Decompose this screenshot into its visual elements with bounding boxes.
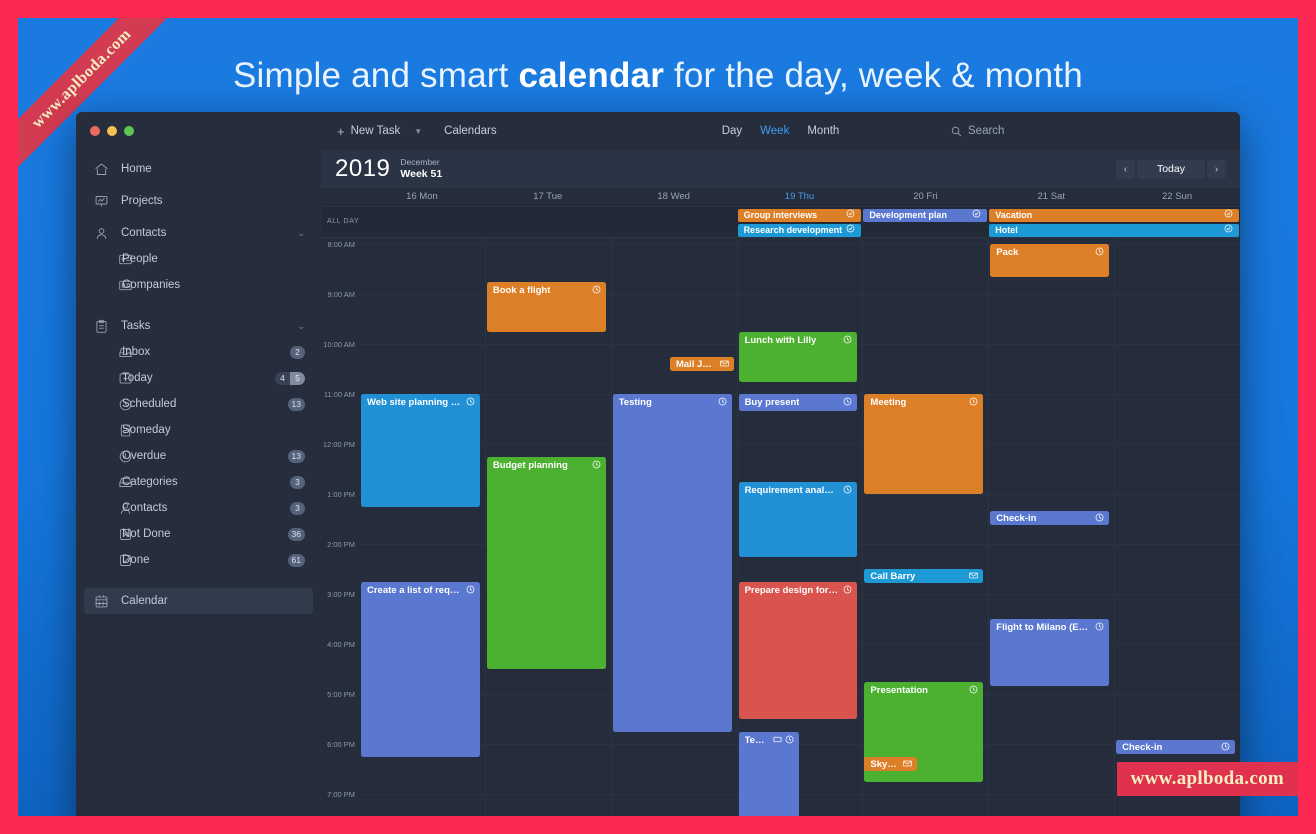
event-header: Flight to Milano (EG 224)	[990, 619, 1109, 633]
day-divider	[988, 238, 989, 816]
header-subtitle: December Week 51	[400, 158, 442, 180]
day-header-1[interactable]: 17 Tue	[485, 188, 611, 206]
sidebar-item-label: Tasks	[121, 320, 297, 332]
sidebar-item-contacts[interactable]: Contacts3	[84, 495, 313, 521]
watermark-bottom-right: www.aplboda.com	[1117, 762, 1298, 796]
overdue-icon	[116, 447, 134, 465]
maximize-icon[interactable]	[124, 126, 134, 136]
clock-icon	[116, 395, 134, 413]
home-icon	[92, 160, 110, 178]
event-header: Create a list of requir…	[361, 582, 480, 596]
check-circle-icon	[846, 209, 855, 222]
check-circle-icon	[972, 209, 981, 222]
new-task-button[interactable]: + New Task ▼	[337, 124, 422, 139]
categories-icon	[116, 473, 134, 491]
mail-icon	[898, 759, 912, 770]
time-label: 3:00 PM	[321, 590, 355, 599]
sidebar-item-label: Calendar	[121, 595, 305, 607]
event-header: Testi…	[739, 732, 799, 746]
sidebar-item-categories[interactable]: Categories3	[84, 469, 313, 495]
time-label: 12:00 PM	[321, 440, 355, 449]
event-header: Web site planning (la…)	[361, 394, 480, 408]
all-day-event[interactable]: Group interviews	[738, 209, 862, 222]
sidebar-item-not-done[interactable]: Not Done36	[84, 521, 313, 547]
sidebar-item-contacts[interactable]: Contacts⌄	[84, 220, 313, 246]
day-header-0[interactable]: 16 Mon	[359, 188, 485, 206]
calendar-icon	[92, 592, 110, 610]
sidebar-item-home[interactable]: Home	[84, 156, 313, 182]
sidebar-item-tasks[interactable]: Tasks⌄	[84, 313, 313, 339]
calendar-event[interactable]: Check-in	[990, 511, 1109, 525]
calendar-event[interactable]: Testing	[613, 394, 732, 732]
event-header: Call Barry	[864, 569, 983, 582]
mail-icon	[969, 571, 978, 580]
search-placeholder: Search	[968, 125, 1004, 137]
clock-icon	[964, 397, 978, 408]
day-divider	[737, 238, 738, 816]
event-title: Lunch with Lilly	[745, 335, 817, 346]
clock-icon	[838, 335, 852, 346]
contacts-icon	[92, 224, 110, 242]
new-task-label: New Task	[351, 125, 401, 137]
not-done-icon	[116, 525, 134, 543]
sidebar-spacer	[76, 573, 321, 582]
calendar-event[interactable]: Requirement analysis	[739, 482, 858, 557]
all-day-row: Group interviewsDevelopment planVacation	[359, 209, 1240, 222]
chevron-down-icon[interactable]: ⌄	[297, 228, 305, 239]
event-header: Pack	[990, 244, 1109, 258]
time-label: 1:00 PM	[321, 490, 355, 499]
event-header: Check-in	[990, 511, 1109, 524]
event-title: Prepare design for pr…	[745, 585, 839, 596]
sidebar-item-label: Companies	[122, 279, 305, 291]
clock-icon	[592, 285, 601, 294]
day-header-2[interactable]: 18 Wed	[611, 188, 737, 206]
next-week-button[interactable]: ›	[1207, 160, 1226, 179]
event-title: Meeting	[870, 397, 906, 408]
calendar-event[interactable]: Prepare design for pr…	[739, 582, 858, 720]
clock-icon	[768, 735, 794, 746]
day-header-4[interactable]: 20 Fri	[862, 188, 988, 206]
sidebar-item-label: Home	[121, 163, 305, 175]
inbox-icon	[116, 343, 134, 361]
calendar-event[interactable]: Mail Jess	[670, 357, 734, 371]
clock-icon	[843, 585, 852, 594]
chevron-down-icon[interactable]: ▼	[414, 127, 422, 136]
event-header: Budget planning	[487, 457, 606, 471]
date-navigation: ‹ Today ›	[1116, 160, 1226, 179]
all-day-event[interactable]: Development plan	[863, 209, 987, 222]
sidebar-item-companies[interactable]: Companies	[84, 272, 313, 298]
check-circle-icon	[972, 209, 981, 218]
today-button[interactable]: Today	[1137, 160, 1205, 179]
sidebar-item-label: People	[122, 253, 305, 265]
sidebar-item-badge: 36	[288, 528, 305, 541]
calendars-button[interactable]: Calendars	[444, 125, 496, 137]
event-header: Mail Jess	[670, 357, 734, 370]
contact-icon	[116, 499, 134, 517]
all-day-label: ALL DAY	[327, 218, 359, 225]
clock-icon	[964, 685, 978, 696]
sidebar-item-badge: 2	[290, 346, 305, 359]
sidebar-item-done[interactable]: Done61	[84, 547, 313, 573]
event-header: Buy present	[739, 394, 858, 408]
clock-icon	[838, 397, 852, 408]
sidebar-item-label: Scheduled	[122, 398, 288, 410]
check-circle-icon	[846, 224, 855, 233]
time-label: 6:00 PM	[321, 740, 355, 749]
window-traffic-lights	[76, 112, 321, 150]
sidebar-item-badge: 3	[290, 502, 305, 515]
event-title: Hotel	[995, 224, 1018, 237]
minimize-icon[interactable]	[107, 126, 117, 136]
headline-bold: calendar	[518, 56, 664, 95]
sidebar-item-scheduled[interactable]: Scheduled13	[84, 391, 313, 417]
calendar-event[interactable]: Flight to Milano (EG 224)	[990, 619, 1109, 686]
sidebar-item-label: Contacts	[121, 227, 297, 239]
tasks-icon	[92, 317, 110, 335]
promo-headline: Simple and smart calendar for the day, w…	[18, 56, 1298, 96]
clock-icon	[1095, 247, 1104, 256]
projects-icon	[92, 192, 110, 210]
done-icon	[116, 551, 134, 569]
day-header-6[interactable]: 22 Sun	[1114, 188, 1240, 206]
all-day-event[interactable]: Hotel	[989, 224, 1239, 237]
mail-icon	[964, 571, 978, 582]
clock-icon	[466, 397, 475, 406]
clock-icon	[969, 685, 978, 694]
calendar-event[interactable]: Skype…	[864, 757, 917, 771]
app-window: HomeProjectsContacts⌄PeopleCompaniesTask…	[76, 112, 1240, 816]
event-title: Create a list of requir…	[367, 585, 461, 596]
search-icon	[951, 126, 962, 137]
calendar-header: 2019 December Week 51 ‹ Today ›	[321, 150, 1240, 188]
clock-icon	[1090, 247, 1104, 258]
time-label: 7:00 PM	[321, 790, 355, 799]
today-icon	[116, 369, 134, 387]
event-title: Flight to Milano (EG 224)	[996, 622, 1090, 633]
time-label: 10:00 AM	[321, 340, 355, 349]
event-title: Vacation	[995, 209, 1032, 222]
view-tab-month[interactable]: Month	[807, 125, 839, 137]
check-circle-icon	[846, 209, 855, 218]
clock-icon	[785, 735, 794, 744]
event-title: Book a flight	[493, 285, 551, 296]
sidebar-item-today[interactable]: Today45	[84, 365, 313, 391]
calendar-event[interactable]: Budget planning	[487, 457, 606, 670]
clock-icon	[843, 485, 852, 494]
clock-icon	[587, 285, 601, 296]
event-title: Check-in	[996, 513, 1036, 524]
clock-icon	[843, 335, 852, 344]
sidebar-item-people[interactable]: People	[84, 246, 313, 272]
event-title: Call Barry	[870, 571, 915, 582]
sidebar-item-badge: 61	[288, 554, 305, 567]
time-label: 11:00 AM	[321, 390, 355, 399]
week-label: Week 51	[400, 168, 442, 180]
event-header: Requirement analysis	[739, 482, 858, 496]
prev-week-button[interactable]: ‹	[1116, 160, 1135, 179]
event-title: Development plan	[869, 209, 947, 222]
event-title: Testing	[619, 397, 652, 408]
sidebar-item-label: Overdue	[122, 450, 288, 462]
sidebar-item-badge: 3	[290, 476, 305, 489]
month-label: December	[400, 158, 442, 168]
event-title: Check-in	[1122, 742, 1162, 753]
main-panel: + New Task ▼ Calendars DayWeekMonth Sear…	[321, 112, 1240, 816]
all-day-event[interactable]: Vacation	[989, 209, 1239, 222]
time-label: 2:00 PM	[321, 540, 355, 549]
clock-icon	[461, 397, 475, 408]
mail-icon	[715, 359, 729, 370]
event-title: Testi…	[745, 735, 768, 746]
close-icon[interactable]	[90, 126, 100, 136]
calendar-event[interactable]: Call Barry	[864, 569, 983, 583]
time-label: 8:00 AM	[321, 240, 355, 249]
time-label: 5:00 PM	[321, 690, 355, 699]
event-header: Check-in	[1116, 740, 1235, 753]
event-title: Group interviews	[744, 209, 818, 222]
hour-gridline	[359, 744, 1240, 745]
sidebar-item-label: Done	[122, 554, 288, 566]
year-label: 2019	[335, 155, 390, 183]
calendar-event[interactable]: Buy present	[739, 394, 858, 411]
clock-icon	[713, 397, 727, 408]
view-tab-week[interactable]: Week	[760, 125, 789, 137]
calendar-event[interactable]: Create a list of requir…	[361, 582, 480, 757]
event-title: Web site planning (la…)	[367, 397, 461, 408]
sidebar-item-inbox[interactable]: Inbox2	[84, 339, 313, 365]
sidebar-item-projects[interactable]: Projects	[84, 188, 313, 214]
mail-icon	[903, 759, 912, 768]
day-divider	[1114, 238, 1115, 816]
day-header-5[interactable]: 21 Sat	[988, 188, 1114, 206]
clock-icon	[1221, 742, 1230, 751]
day-header-3[interactable]: 19 Thu	[737, 188, 863, 206]
event-title: Research development	[744, 224, 843, 237]
check-circle-icon	[1224, 209, 1233, 218]
time-grid[interactable]: 8:00 AM9:00 AM10:00 AM11:00 AM12:00 PM1:…	[321, 238, 1240, 816]
clock-icon	[1090, 622, 1104, 633]
check-circle-icon	[846, 224, 855, 237]
calendar-event[interactable]: Check-in	[1116, 740, 1235, 754]
view-switcher: DayWeekMonth	[681, 125, 881, 137]
event-header: Prepare design for pr…	[739, 582, 858, 596]
clock-icon	[1095, 622, 1104, 631]
sidebar-item-overdue[interactable]: Overdue13	[84, 443, 313, 469]
sidebar-item-someday[interactable]: Someday	[84, 417, 313, 443]
view-tab-day[interactable]: Day	[722, 125, 742, 137]
headline-post: for the day, week & month	[664, 56, 1083, 95]
sidebar-item-label: Today	[122, 372, 275, 384]
clock-icon	[838, 585, 852, 596]
badge-count-total: 5	[290, 372, 305, 385]
chevron-down-icon[interactable]: ⌄	[297, 321, 305, 332]
all-day-section: ALL DAY Group interviewsDevelopment plan…	[321, 206, 1240, 238]
plus-icon: +	[337, 124, 345, 139]
event-title: Requirement analysis	[745, 485, 839, 496]
time-label: 4:00 PM	[321, 640, 355, 649]
day-divider	[485, 238, 486, 816]
all-day-event[interactable]: Research development	[738, 224, 862, 237]
calendar-event[interactable]: Testi…	[739, 732, 799, 817]
calendar-event[interactable]: Lunch with Lilly	[739, 332, 858, 382]
clock-icon	[1216, 742, 1230, 753]
clock-icon	[461, 585, 475, 596]
note-icon	[116, 421, 134, 439]
check-circle-icon	[1224, 224, 1233, 237]
sidebar-spacer	[76, 298, 321, 307]
calendar-event[interactable]: Meeting	[864, 394, 983, 494]
day-divider	[862, 238, 863, 816]
clock-icon	[843, 397, 852, 406]
calendar-event[interactable]: Web site planning (la…)	[361, 394, 480, 507]
check-circle-icon	[1224, 224, 1233, 233]
clock-icon	[718, 397, 727, 406]
sidebar-item-calendar[interactable]: Calendar	[84, 588, 313, 614]
note-icon	[773, 735, 782, 744]
sidebar: HomeProjectsContacts⌄PeopleCompaniesTask…	[76, 112, 321, 816]
event-title: Pack	[996, 247, 1018, 258]
event-header: Skype…	[864, 757, 917, 770]
event-title: Skype…	[870, 759, 898, 770]
event-header: Book a flight	[487, 282, 606, 296]
check-circle-icon	[1224, 209, 1233, 222]
event-title: Presentation	[870, 685, 928, 696]
event-title: Budget planning	[493, 460, 568, 471]
event-header: Meeting	[864, 394, 983, 408]
calendar-week-view: 16 Mon17 Tue18 Wed19 Thu20 Fri21 Sat22 S…	[321, 188, 1240, 816]
promo-banner: Simple and smart calendar for the day, w…	[18, 18, 1298, 816]
sidebar-item-label: Projects	[121, 195, 305, 207]
event-header: Presentation	[864, 682, 983, 696]
clock-icon	[466, 585, 475, 594]
clock-icon	[969, 397, 978, 406]
sidebar-item-label: Contacts	[122, 502, 290, 514]
all-day-row: Research developmentHotel	[359, 224, 1240, 237]
toolbar: + New Task ▼ Calendars DayWeekMonth Sear…	[321, 112, 1240, 150]
event-title: Buy present	[745, 397, 800, 408]
hour-gridline	[359, 794, 1240, 795]
event-title: Mail Jess	[676, 359, 715, 370]
clock-icon	[838, 485, 852, 496]
calendar-event[interactable]: Book a flight	[487, 282, 606, 332]
companies-icon	[116, 276, 134, 294]
headline-pre: Simple and smart	[233, 56, 518, 95]
sidebar-item-badge: 13	[288, 450, 305, 463]
sidebar-item-badge: 13	[288, 398, 305, 411]
people-icon	[116, 250, 134, 268]
clock-icon	[592, 460, 601, 469]
mail-icon	[720, 359, 729, 368]
sidebar-item-label: Someday	[122, 424, 305, 436]
hour-gridline	[359, 444, 1240, 445]
badge-count-done: 4	[275, 372, 290, 385]
calendar-event[interactable]: Pack	[990, 244, 1109, 277]
sidebar-item-label: Categories	[122, 476, 290, 488]
day-headers: 16 Mon17 Tue18 Wed19 Thu20 Fri21 Sat22 S…	[321, 188, 1240, 206]
clock-icon	[1095, 513, 1104, 522]
time-label: 9:00 AM	[321, 290, 355, 299]
day-divider	[611, 238, 612, 816]
sidebar-item-label: Not Done	[122, 528, 288, 540]
sidebar-item-label: Inbox	[122, 346, 290, 358]
search-box[interactable]: Search	[951, 125, 1004, 137]
clock-icon	[587, 460, 601, 471]
clock-icon	[1090, 513, 1104, 524]
event-header: Lunch with Lilly	[739, 332, 858, 346]
sidebar-item-badge-split: 45	[275, 372, 305, 385]
sidebar-nav: HomeProjectsContacts⌄PeopleCompaniesTask…	[76, 156, 321, 614]
event-header: Testing	[613, 394, 732, 408]
